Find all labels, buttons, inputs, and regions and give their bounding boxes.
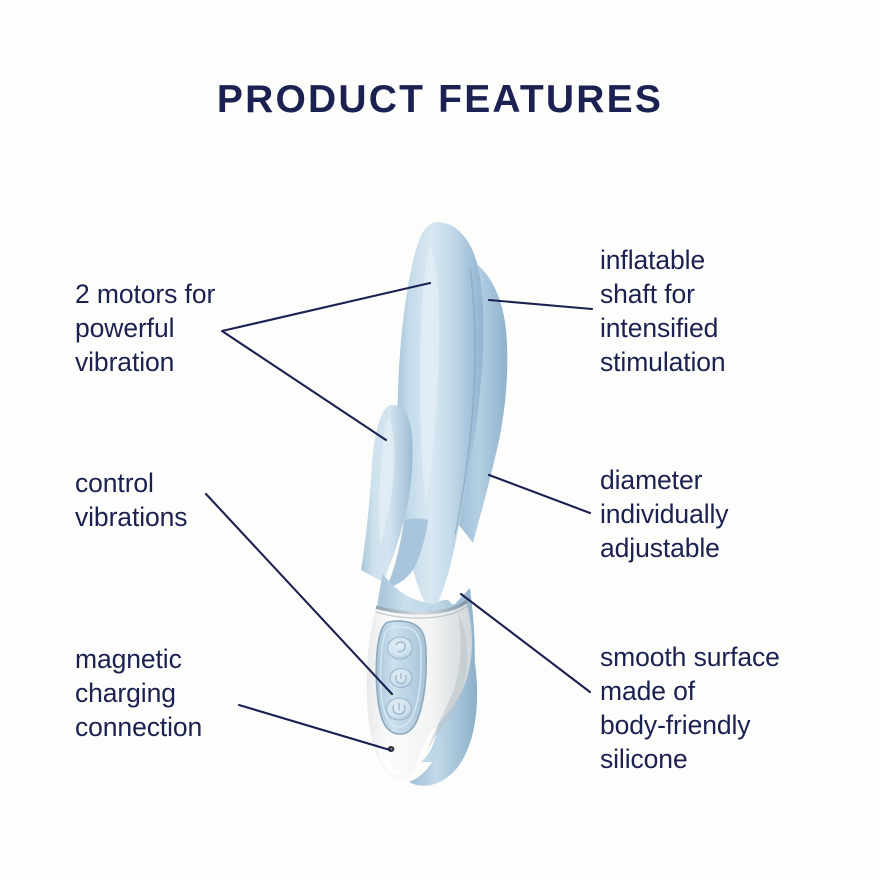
callout-inflatable-line-2: shaft for [600, 277, 726, 311]
leader-magnetic [239, 705, 390, 750]
callout-control-line-2: vibrations [75, 500, 187, 534]
callout-smooth-line-2: made of [600, 674, 780, 708]
callout-inflatable-line-4: stimulation [600, 345, 726, 379]
callout-diameter-line-1: diameter [600, 463, 728, 497]
callout-smooth-line-1: smooth surface [600, 640, 780, 674]
callout-motors-line-1: 2 motors for [75, 277, 215, 311]
callout-label-magnetic: magnetic charging connection [75, 642, 202, 744]
control-buttons [387, 637, 413, 720]
callout-magnetic-line-1: magnetic [75, 642, 202, 676]
callout-label-inflatable: inflatable shaft for intensified stimula… [600, 243, 726, 379]
callout-inflatable-line-3: intensified [600, 311, 726, 345]
callout-label-motors: 2 motors for powerful vibration [75, 277, 215, 379]
infographic-page: PRODUCT FEATURES [0, 0, 880, 880]
leader-diameter [489, 475, 590, 513]
button-top[interactable] [388, 637, 413, 659]
callout-magnetic-line-3: connection [75, 710, 202, 744]
leader-smooth [461, 594, 590, 692]
callout-motors-line-3: vibration [75, 345, 215, 379]
callout-label-control: control vibrations [75, 466, 187, 534]
callout-control-line-1: control [75, 466, 187, 500]
callout-label-diameter: diameter individually adjustable [600, 463, 728, 565]
product-body [361, 222, 507, 786]
callout-diameter-line-3: adjustable [600, 531, 728, 565]
callout-label-smooth: smooth surface made of body-friendly sil… [600, 640, 780, 776]
leader-control [206, 494, 392, 694]
callout-motors-line-2: powerful [75, 311, 215, 345]
callout-inflatable-line-1: inflatable [600, 243, 726, 277]
callout-magnetic-line-2: charging [75, 676, 202, 710]
callout-smooth-line-4: silicone [600, 742, 780, 776]
callout-smooth-line-3: body-friendly [600, 708, 780, 742]
leader-inflatable [489, 300, 592, 309]
callout-diameter-line-2: individually [600, 497, 728, 531]
